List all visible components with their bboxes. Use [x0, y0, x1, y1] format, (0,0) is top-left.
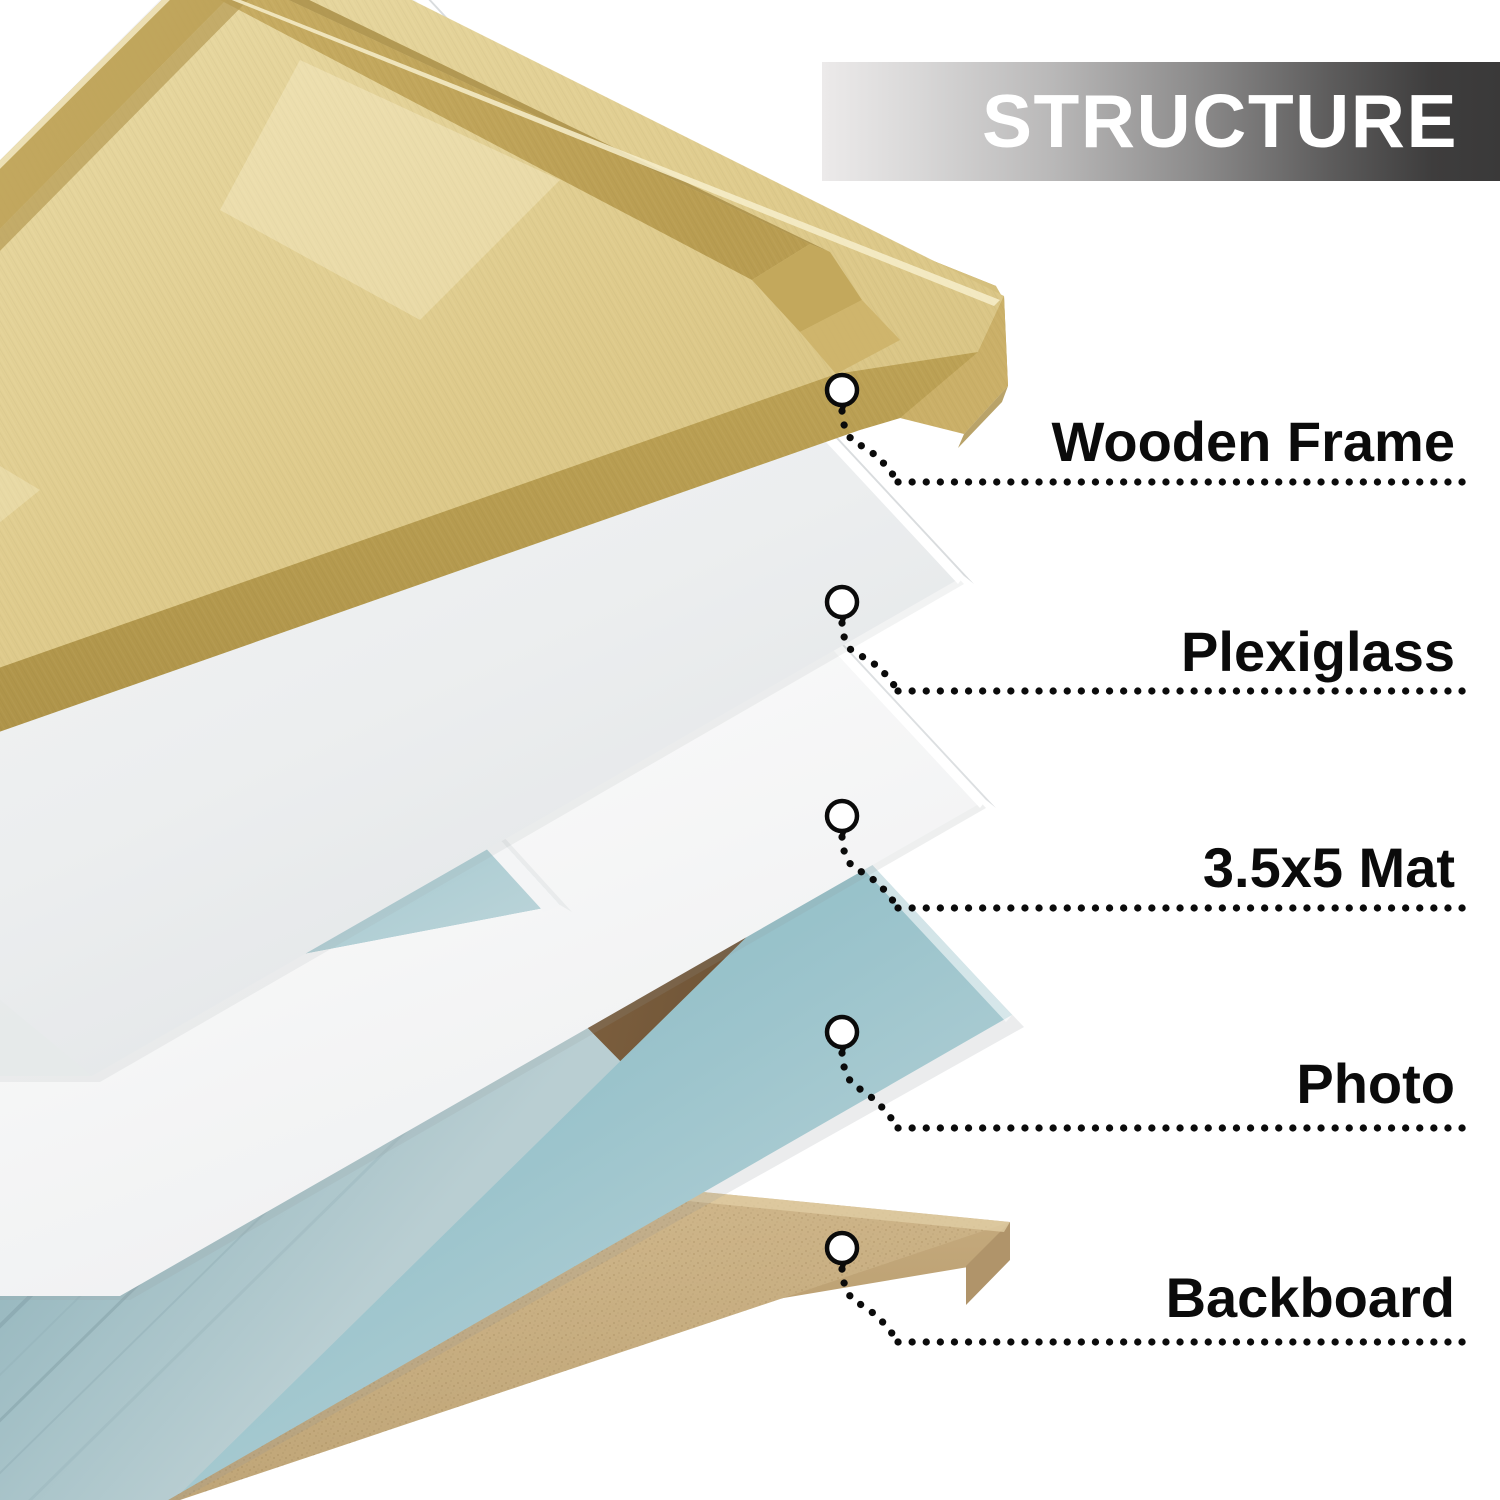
callout-label-mat: 3.5x5 Mat	[1203, 840, 1455, 896]
callout-label-backboard: Backboard	[1166, 1270, 1455, 1326]
structure-infographic: STRUCTURE Wooden FramePlexiglass3.5x5 Ma…	[0, 0, 1500, 1500]
callout-label-photo: Photo	[1296, 1056, 1455, 1112]
structure-banner: STRUCTURE	[822, 62, 1500, 181]
structure-banner-title: STRUCTURE	[982, 84, 1458, 159]
callout-label-plexiglass: Plexiglass	[1181, 624, 1455, 680]
callout-marker-wooden-frame[interactable]	[827, 375, 857, 405]
callout-marker-mat[interactable]	[827, 801, 857, 831]
callout-marker-plexiglass[interactable]	[827, 587, 857, 617]
callout-label-wooden-frame: Wooden Frame	[1052, 414, 1455, 470]
callout-marker-photo[interactable]	[827, 1017, 857, 1047]
callout-marker-backboard[interactable]	[827, 1233, 857, 1263]
